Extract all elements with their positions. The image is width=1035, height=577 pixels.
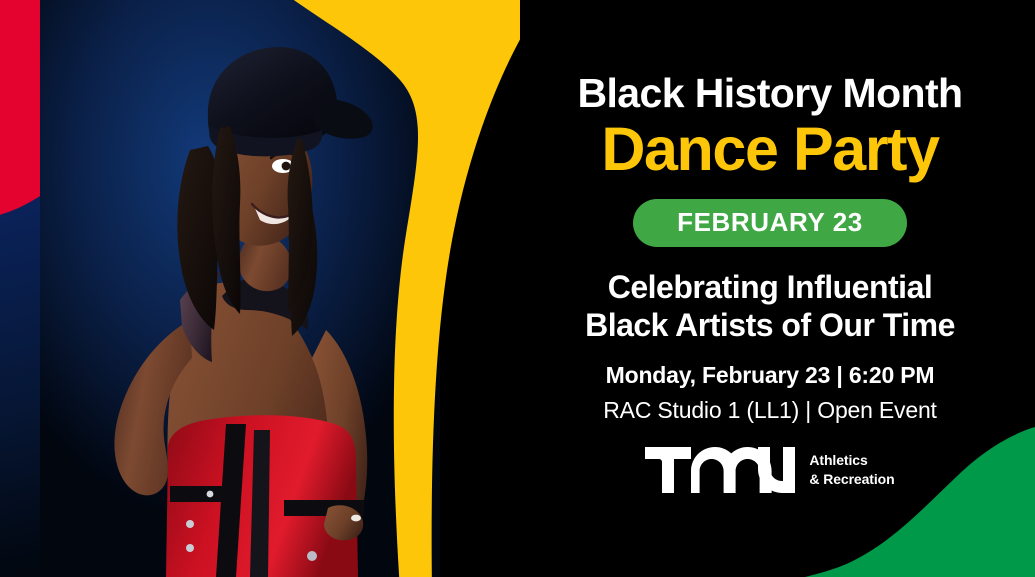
event-poster: Black History Month Dance Party FEBRUARY…: [0, 0, 1035, 577]
event-location: RAC Studio 1 (LL1) | Open Event: [603, 396, 936, 425]
subheading-line-2: Black Artists of Our Time: [585, 307, 955, 345]
date-badge: FEBRUARY 23: [633, 199, 907, 247]
logo-subtext: Athletics & Recreation: [809, 451, 894, 489]
event-datetime: Monday, February 23 | 6:20 PM: [606, 361, 935, 390]
logo-subtext-line-1: Athletics: [809, 451, 894, 470]
subheading-line-1: Celebrating Influential: [585, 269, 955, 307]
logo-subtext-line-2: & Recreation: [809, 470, 894, 489]
poster-content: Black History Month Dance Party FEBRUARY…: [505, 0, 1035, 577]
yellow-curve-shape: [250, 0, 520, 577]
left-photo-panel: [0, 0, 520, 577]
tmu-logo-lockup: Athletics & Recreation: [645, 447, 894, 493]
tmu-wordmark-icon: [645, 447, 795, 493]
subheading: Celebrating Influential Black Artists of…: [585, 269, 955, 345]
headline-top: Black History Month: [578, 72, 963, 115]
headline-main: Dance Party: [601, 117, 938, 183]
